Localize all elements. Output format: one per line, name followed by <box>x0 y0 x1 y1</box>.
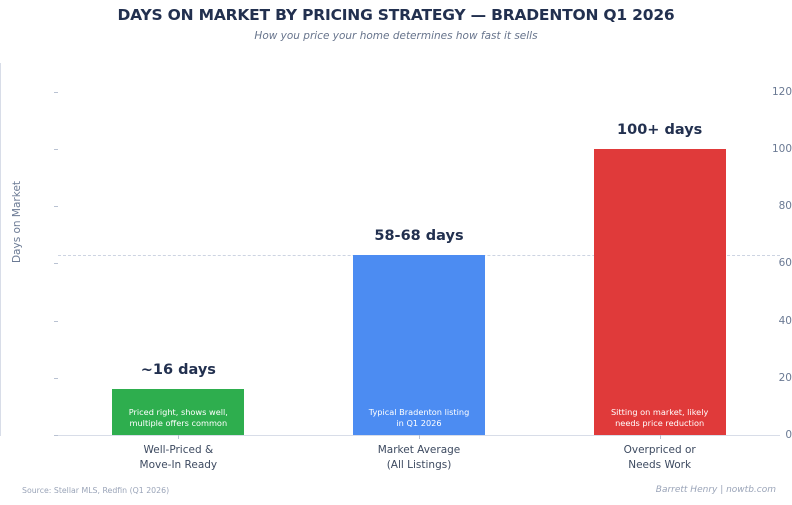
y-tick-mark <box>54 378 58 379</box>
bar-annotation: Typical Bradenton listing in Q1 2026 <box>353 407 485 435</box>
x-tick-mark <box>178 435 179 439</box>
y-axis-title: Days on Market <box>11 122 23 322</box>
bar-annotation: Priced right, shows well, multiple offer… <box>112 407 244 435</box>
y-tick-label: 20 <box>750 372 792 384</box>
y-tick-label: 80 <box>750 200 792 212</box>
y-tick-label: 120 <box>750 86 792 98</box>
bar-1[interactable]: Priced right, shows well, multiple offer… <box>112 389 244 435</box>
y-tick-mark <box>54 321 58 322</box>
bar-value-label: 100+ days <box>617 122 702 138</box>
y-tick-label: 0 <box>750 429 792 441</box>
chart-subtitle: How you price your home determines how f… <box>0 30 792 42</box>
x-tick-label: Overpriced or Needs Work <box>624 443 696 472</box>
chart-title: DAYS ON MARKET BY PRICING STRATEGY — BRA… <box>0 6 792 24</box>
bar-value-label: 58-68 days <box>374 228 463 244</box>
bar-value-label: ~16 days <box>141 362 216 378</box>
y-tick-mark <box>54 263 58 264</box>
y-tick-label: 100 <box>750 143 792 155</box>
y-tick-mark <box>54 149 58 150</box>
x-tick-mark <box>419 435 420 439</box>
y-tick-label: 60 <box>750 257 792 269</box>
bar-2[interactable]: Typical Bradenton listing in Q1 2026 <box>353 255 485 435</box>
y-tick-mark <box>54 206 58 207</box>
x-tick-label: Well-Priced & Move-In Ready <box>140 443 218 472</box>
y-tick-mark <box>54 92 58 93</box>
bar-annotation: Sitting on market, likely needs price re… <box>594 407 726 435</box>
bar-3[interactable]: Sitting on market, likely needs price re… <box>594 149 726 435</box>
y-tick-label: 40 <box>750 315 792 327</box>
y-axis-spine <box>0 63 1 436</box>
footer-credit: Barrett Henry | nowtb.com <box>656 485 776 495</box>
footer-source: Source: Stellar MLS, Redfin (Q1 2026) <box>22 486 169 495</box>
y-tick-mark <box>54 435 58 436</box>
x-tick-mark <box>660 435 661 439</box>
x-tick-label: Market Average (All Listings) <box>378 443 461 472</box>
